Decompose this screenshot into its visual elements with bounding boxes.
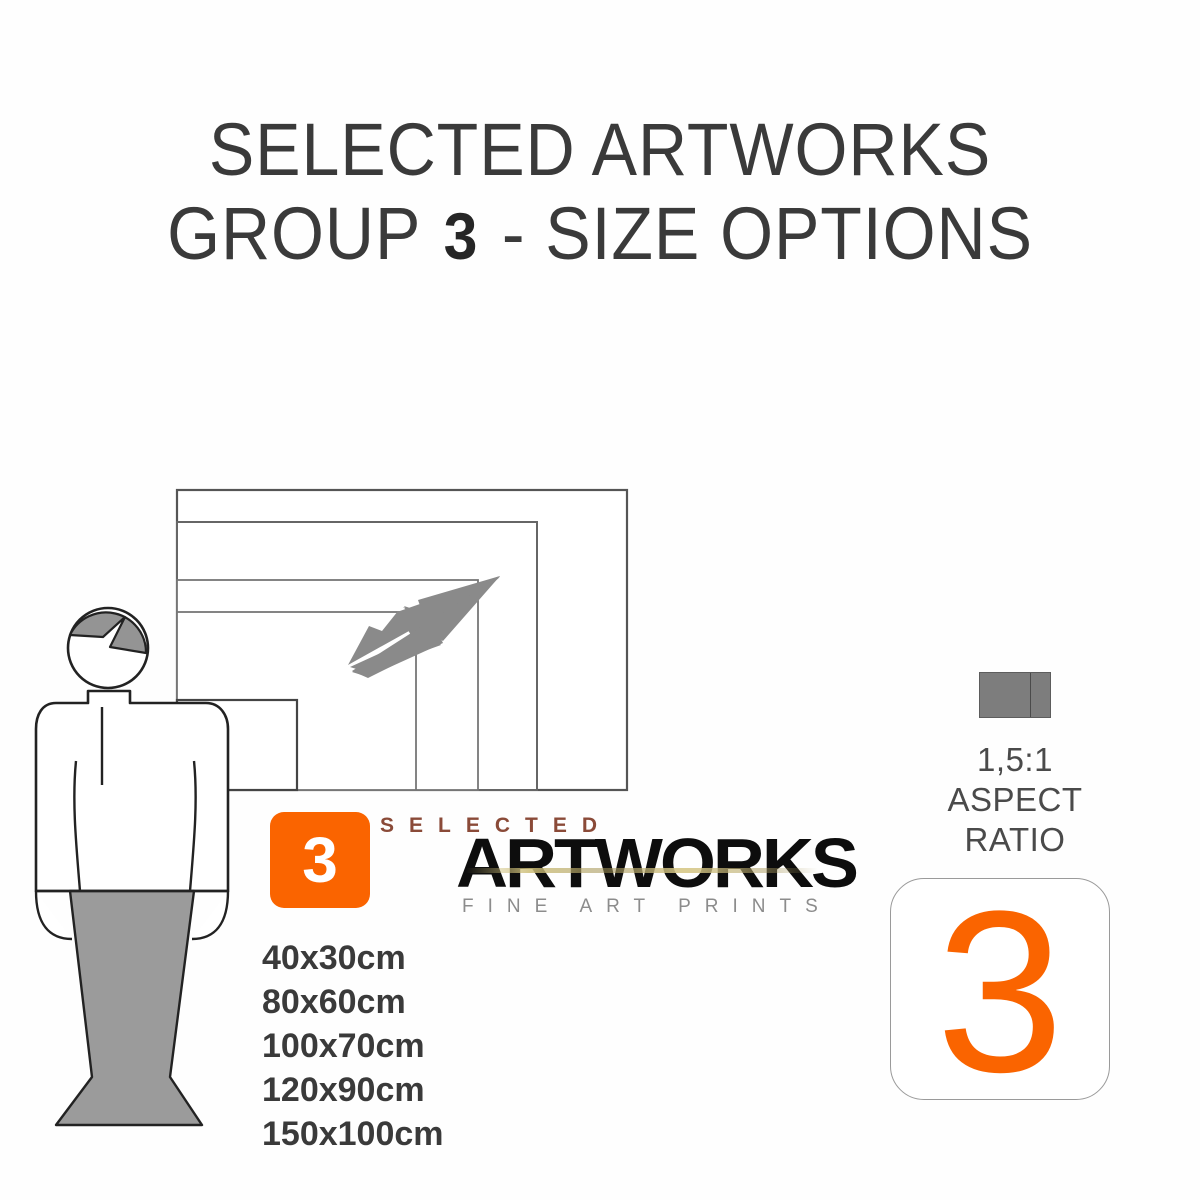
page-title: SELECTED ARTWORKS GROUP 3 - SIZE OPTIONS <box>0 108 1200 278</box>
brand-artworks-word: ARTWORKS <box>456 828 856 898</box>
title-group-prefix: GROUP <box>167 192 440 275</box>
group-number-card: 3 <box>890 878 1110 1100</box>
aspect-ratio-panel: 1,5:1 ASPECT RATIO <box>900 672 1130 860</box>
title-line-1: SELECTED ARTWORKS <box>48 108 1152 192</box>
person-hand-right <box>192 891 228 939</box>
aspect-ratio-label-1: ASPECT <box>900 780 1130 820</box>
brand-logo-row: 3 SELECTED ARTWORKS FINE ART PRINTS <box>270 812 840 922</box>
aspect-ratio-label-2: RATIO <box>900 820 1130 860</box>
rectangle-divider-icon <box>1030 673 1031 717</box>
title-line-2: GROUP 3 - SIZE OPTIONS <box>48 192 1152 278</box>
title-group-suffix: - SIZE OPTIONS <box>482 192 1033 275</box>
group-badge: 3 <box>270 812 370 908</box>
size-option-item[interactable]: 80x60cm <box>262 980 592 1024</box>
person-torso-icon <box>36 691 228 891</box>
rectangle-split-icon <box>979 672 1051 718</box>
arrow-up-right-icon <box>348 576 500 678</box>
size-options-list: 40x30cm 80x60cm 100x70cm 120x90cm 150x10… <box>262 936 592 1156</box>
standing-person-silhouette <box>30 595 260 1155</box>
brand-tagline: FINE ART PRINTS <box>462 896 832 918</box>
person-trousers-icon <box>56 891 202 1125</box>
brand-lockup: SELECTED ARTWORKS FINE ART PRINTS <box>378 812 838 916</box>
aspect-ratio-value: 1,5:1 <box>900 740 1130 780</box>
size-option-item[interactable]: 120x90cm <box>262 1068 592 1112</box>
person-hand-left <box>36 891 72 939</box>
size-option-item[interactable]: 40x30cm <box>262 936 592 980</box>
size-option-item[interactable]: 100x70cm <box>262 1024 592 1068</box>
size-option-item[interactable]: 150x100cm <box>262 1112 592 1156</box>
group-number-card-value: 3 <box>936 892 1064 1092</box>
title-group-number: 3 <box>440 199 482 273</box>
